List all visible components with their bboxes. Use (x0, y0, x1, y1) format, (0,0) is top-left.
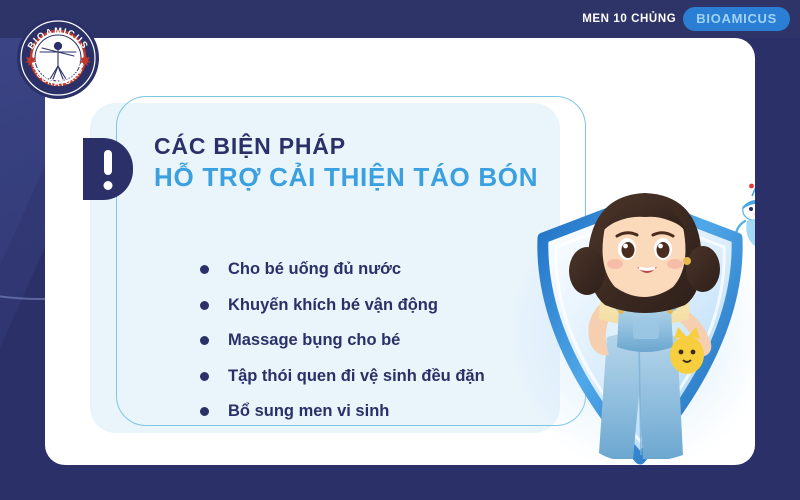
list-item: Cho bé uống đủ nước (200, 260, 485, 279)
list-item: Bổ sung men vi sinh (200, 402, 485, 421)
measures-list: Cho bé uống đủ nước Khuyến khích bé vận … (200, 260, 485, 438)
title-primary: CÁC BIỆN PHÁP (154, 133, 538, 159)
header-brand-pill: BIOAMICUS (683, 7, 790, 31)
list-item: Tập thói quen đi vệ sinh đều đặn (200, 367, 485, 386)
bullet-dot-icon (200, 336, 209, 345)
bioamicus-logo: BIOAMICUS LABORATORIES (16, 16, 100, 100)
exclamation-bar (104, 150, 112, 175)
slide-canvas: BIOAMICUS MEN 10 CHỦNG BIOAMICUS CÁC BIỆ… (0, 0, 800, 500)
list-item-label: Tập thói quen đi vệ sinh đều đặn (228, 367, 485, 386)
exclamation-dot (104, 181, 113, 190)
bullet-dot-icon (200, 372, 209, 381)
list-item-label: Cho bé uống đủ nước (228, 260, 401, 279)
header-bar: MEN 10 CHỦNG BIOAMICUS (0, 0, 800, 38)
list-item: Massage bụng cho bé (200, 331, 485, 350)
content-card: CÁC BIỆN PHÁP HỖ TRỢ CẢI THIỆN TÁO BÓN C… (45, 38, 755, 465)
title-secondary: HỖ TRỢ CẢI THIỆN TÁO BÓN (154, 161, 538, 194)
list-item-label: Khuyến khích bé vận động (228, 296, 438, 315)
girl-illustration (561, 187, 726, 459)
title-block: CÁC BIỆN PHÁP HỖ TRỢ CẢI THIỆN TÁO BÓN (83, 133, 538, 200)
shield-character-artwork (523, 193, 755, 465)
bullet-dot-icon (200, 265, 209, 274)
header-tagline: MEN 10 CHỦNG (582, 13, 676, 25)
bullet-dot-icon (200, 407, 209, 416)
list-item-label: Bổ sung men vi sinh (228, 402, 389, 421)
list-item: Khuyến khích bé vận động (200, 296, 485, 315)
bullet-dot-icon (200, 301, 209, 310)
exclamation-icon (83, 138, 133, 200)
list-item-label: Massage bụng cho bé (228, 331, 400, 350)
